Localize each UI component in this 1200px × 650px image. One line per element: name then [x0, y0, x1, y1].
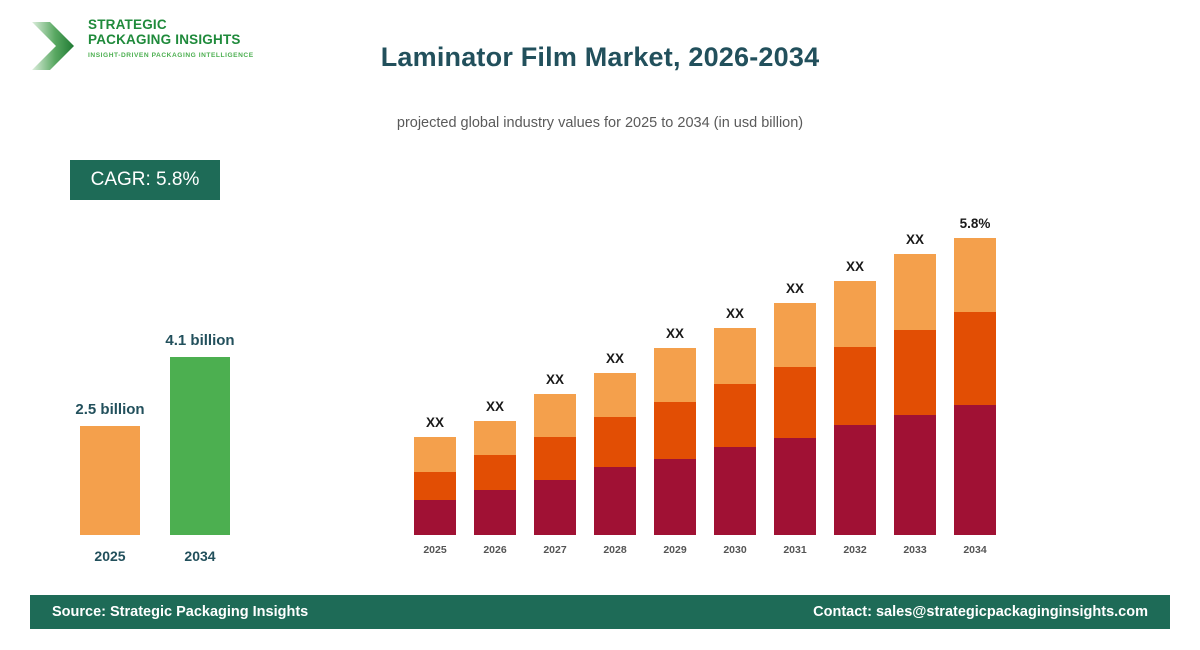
stacked-value-label-2027: XX [525, 372, 585, 387]
stacked-value-label-2025: XX [405, 415, 465, 430]
bar-segment-segment-1-2032 [834, 425, 876, 535]
bar-segment-segment-3-2031 [774, 303, 816, 367]
bar-segment-segment-1-2028 [594, 467, 636, 535]
stacked-value-label-2033: XX [885, 232, 945, 247]
comparison-x-label-2034: 2034 [145, 548, 255, 564]
bar-segment-segment-3-2025 [414, 437, 456, 472]
bar-segment-segment-1-2034 [954, 405, 996, 535]
bar-segment-segment-1-2033 [894, 415, 936, 535]
bar-segment-segment-1-2025 [414, 500, 456, 535]
bar-segment-segment-2-2034 [954, 312, 996, 405]
comparison-bar-2034 [170, 357, 230, 535]
footer-contact: Contact: sales@strategicpackaginginsight… [813, 604, 1148, 620]
stacked-x-label-2032: 2032 [825, 544, 885, 556]
bar-segment-segment-1-2026 [474, 490, 516, 535]
stacked-x-label-2034: 2034 [945, 544, 1005, 556]
bar-segment-segment-3-2028 [594, 373, 636, 417]
bar-segment-segment-3-2026 [474, 421, 516, 455]
stacked-value-label-2029: XX [645, 326, 705, 341]
stacked-bar-2025 [414, 437, 456, 535]
comparison-bar-2025 [80, 426, 140, 535]
bar-segment-segment-3-2033 [894, 254, 936, 330]
stacked-value-label-2031: XX [765, 281, 825, 296]
stacked-value-label-2028: XX [585, 351, 645, 366]
stacked-x-label-2028: 2028 [585, 544, 645, 556]
bar-segment-segment-1-2027 [534, 480, 576, 535]
bar-segment-segment-2-2028 [594, 417, 636, 467]
comparison-value-label-2034: 4.1 billion [145, 332, 255, 349]
page-subtitle: projected global industry values for 202… [0, 115, 1200, 131]
stacked-x-label-2030: 2030 [705, 544, 765, 556]
bar-segment-segment-2-2030 [714, 384, 756, 447]
bar-segment-segment-3-2029 [654, 348, 696, 402]
bar-segment-segment-3-2030 [714, 328, 756, 384]
stacked-bar-2033 [894, 254, 936, 535]
stacked-value-label-2034: 5.8% [945, 216, 1005, 231]
stacked-x-label-2033: 2033 [885, 544, 945, 556]
forecast-stacked-bar-chart: XX2025XX2026XX2027XX2028XX2029XX2030XX20… [400, 200, 1020, 560]
stacked-bar-2028 [594, 373, 636, 535]
stacked-bar-2032 [834, 281, 876, 535]
stacked-bar-2031 [774, 303, 816, 535]
stacked-value-label-2026: XX [465, 399, 525, 414]
stacked-value-label-2030: XX [705, 306, 765, 321]
bar-segment-segment-2-2026 [474, 455, 516, 490]
stacked-bar-2030 [714, 328, 756, 535]
stacked-x-label-2025: 2025 [405, 544, 465, 556]
bar-segment-segment-2-2029 [654, 402, 696, 459]
page-title: Laminator Film Market, 2026-2034 [0, 42, 1200, 73]
bar-segment-segment-3-2027 [534, 394, 576, 437]
bar-segment-segment-3-2034 [954, 238, 996, 312]
bar-segment-segment-2-2031 [774, 367, 816, 438]
bar-segment-segment-1-2031 [774, 438, 816, 535]
logo-line-1: STRATEGIC [88, 18, 254, 33]
stacked-bar-2026 [474, 421, 516, 535]
bar-segment-segment-2-2027 [534, 437, 576, 480]
bar-segment-segment-2-2032 [834, 347, 876, 425]
cagr-badge-label: CAGR: 5.8% [91, 169, 200, 191]
bar-segment-segment-3-2032 [834, 281, 876, 347]
stacked-bar-2034 [954, 238, 996, 535]
stacked-value-label-2032: XX [825, 259, 885, 274]
stacked-x-label-2026: 2026 [465, 544, 525, 556]
bar-segment-segment-1-2030 [714, 447, 756, 535]
footer-bar: Source: Strategic Packaging Insights Con… [30, 595, 1170, 629]
cagr-badge: CAGR: 5.8% [70, 160, 220, 200]
comparison-value-label-2025: 2.5 billion [55, 401, 165, 418]
stacked-x-label-2029: 2029 [645, 544, 705, 556]
footer-source: Source: Strategic Packaging Insights [52, 604, 308, 620]
stacked-x-label-2031: 2031 [765, 544, 825, 556]
bar-segment-segment-2-2033 [894, 330, 936, 415]
bar-segment-segment-1-2029 [654, 459, 696, 535]
stacked-x-label-2027: 2027 [525, 544, 585, 556]
bar-segment-segment-2-2025 [414, 472, 456, 500]
stacked-bar-2029 [654, 348, 696, 535]
stacked-bar-2027 [534, 394, 576, 535]
market-size-comparison-chart: 2.5 billion20254.1 billion2034 [55, 300, 285, 570]
